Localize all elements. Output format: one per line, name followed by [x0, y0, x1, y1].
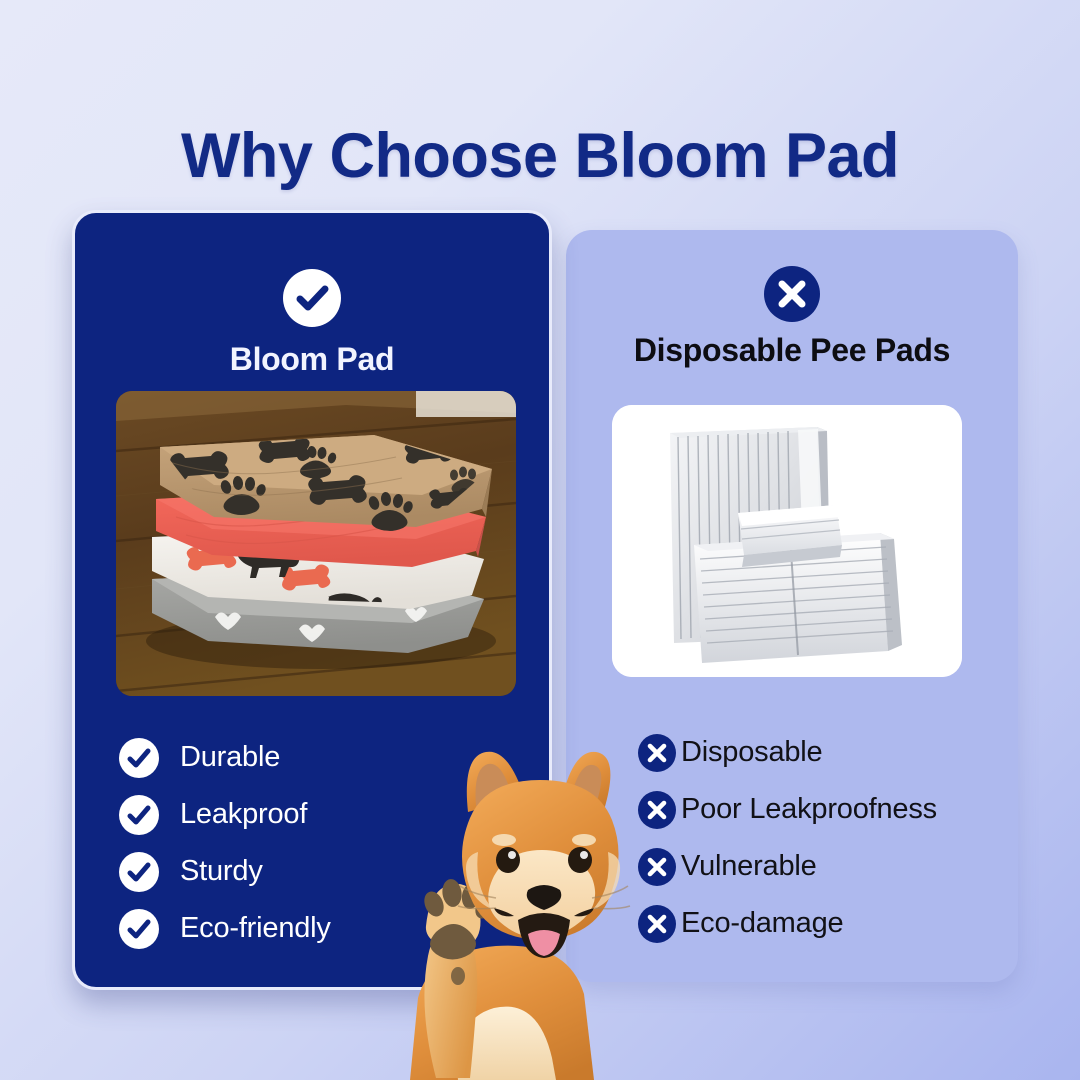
negative-comparison-card: Disposable Pee Pads: [566, 230, 1018, 982]
x-circle-icon: [638, 734, 676, 772]
positive-feature-list: Durable Leakproof Sturdy: [119, 729, 519, 957]
check-circle-icon: [119, 852, 159, 892]
list-item-label: Eco-damage: [681, 907, 843, 940]
list-item: Eco-damage: [638, 895, 1018, 952]
list-item: Eco-friendly: [119, 900, 519, 957]
list-item-label: Durable: [180, 741, 280, 774]
x-circle-icon: [764, 266, 820, 322]
list-item: Vulnerable: [638, 838, 1018, 895]
x-circle-icon: [638, 905, 676, 943]
list-item-label: Sturdy: [180, 855, 263, 888]
check-circle-icon: [119, 795, 159, 835]
comparison-infographic: Why Choose Bloom Pad Disposable Pee Pads: [0, 0, 1080, 1080]
x-circle-icon: [638, 791, 676, 829]
check-circle-icon: [119, 909, 159, 949]
x-circle-icon: [638, 848, 676, 886]
list-item-label: Eco-friendly: [180, 912, 331, 945]
list-item: Leakproof: [119, 786, 519, 843]
negative-card-title: Disposable Pee Pads: [566, 332, 1018, 369]
list-item-label: Leakproof: [180, 798, 307, 831]
list-item: Disposable: [638, 724, 1018, 781]
check-circle-icon: [283, 269, 341, 327]
positive-card-title: Bloom Pad: [75, 341, 549, 378]
negative-feature-list: Disposable Poor Leakproofness Vulnerable: [638, 724, 1018, 952]
negative-product-photo: [612, 405, 962, 677]
positive-product-photo: [116, 391, 516, 696]
list-item: Poor Leakproofness: [638, 781, 1018, 838]
list-item-label: Disposable: [681, 736, 822, 769]
page-title: Why Choose Bloom Pad: [0, 120, 1080, 192]
check-circle-icon: [119, 738, 159, 778]
positive-comparison-card: Bloom Pad: [72, 210, 552, 990]
list-item-label: Poor Leakproofness: [681, 793, 937, 826]
list-item: Durable: [119, 729, 519, 786]
list-item-label: Vulnerable: [681, 850, 817, 883]
list-item: Sturdy: [119, 843, 519, 900]
